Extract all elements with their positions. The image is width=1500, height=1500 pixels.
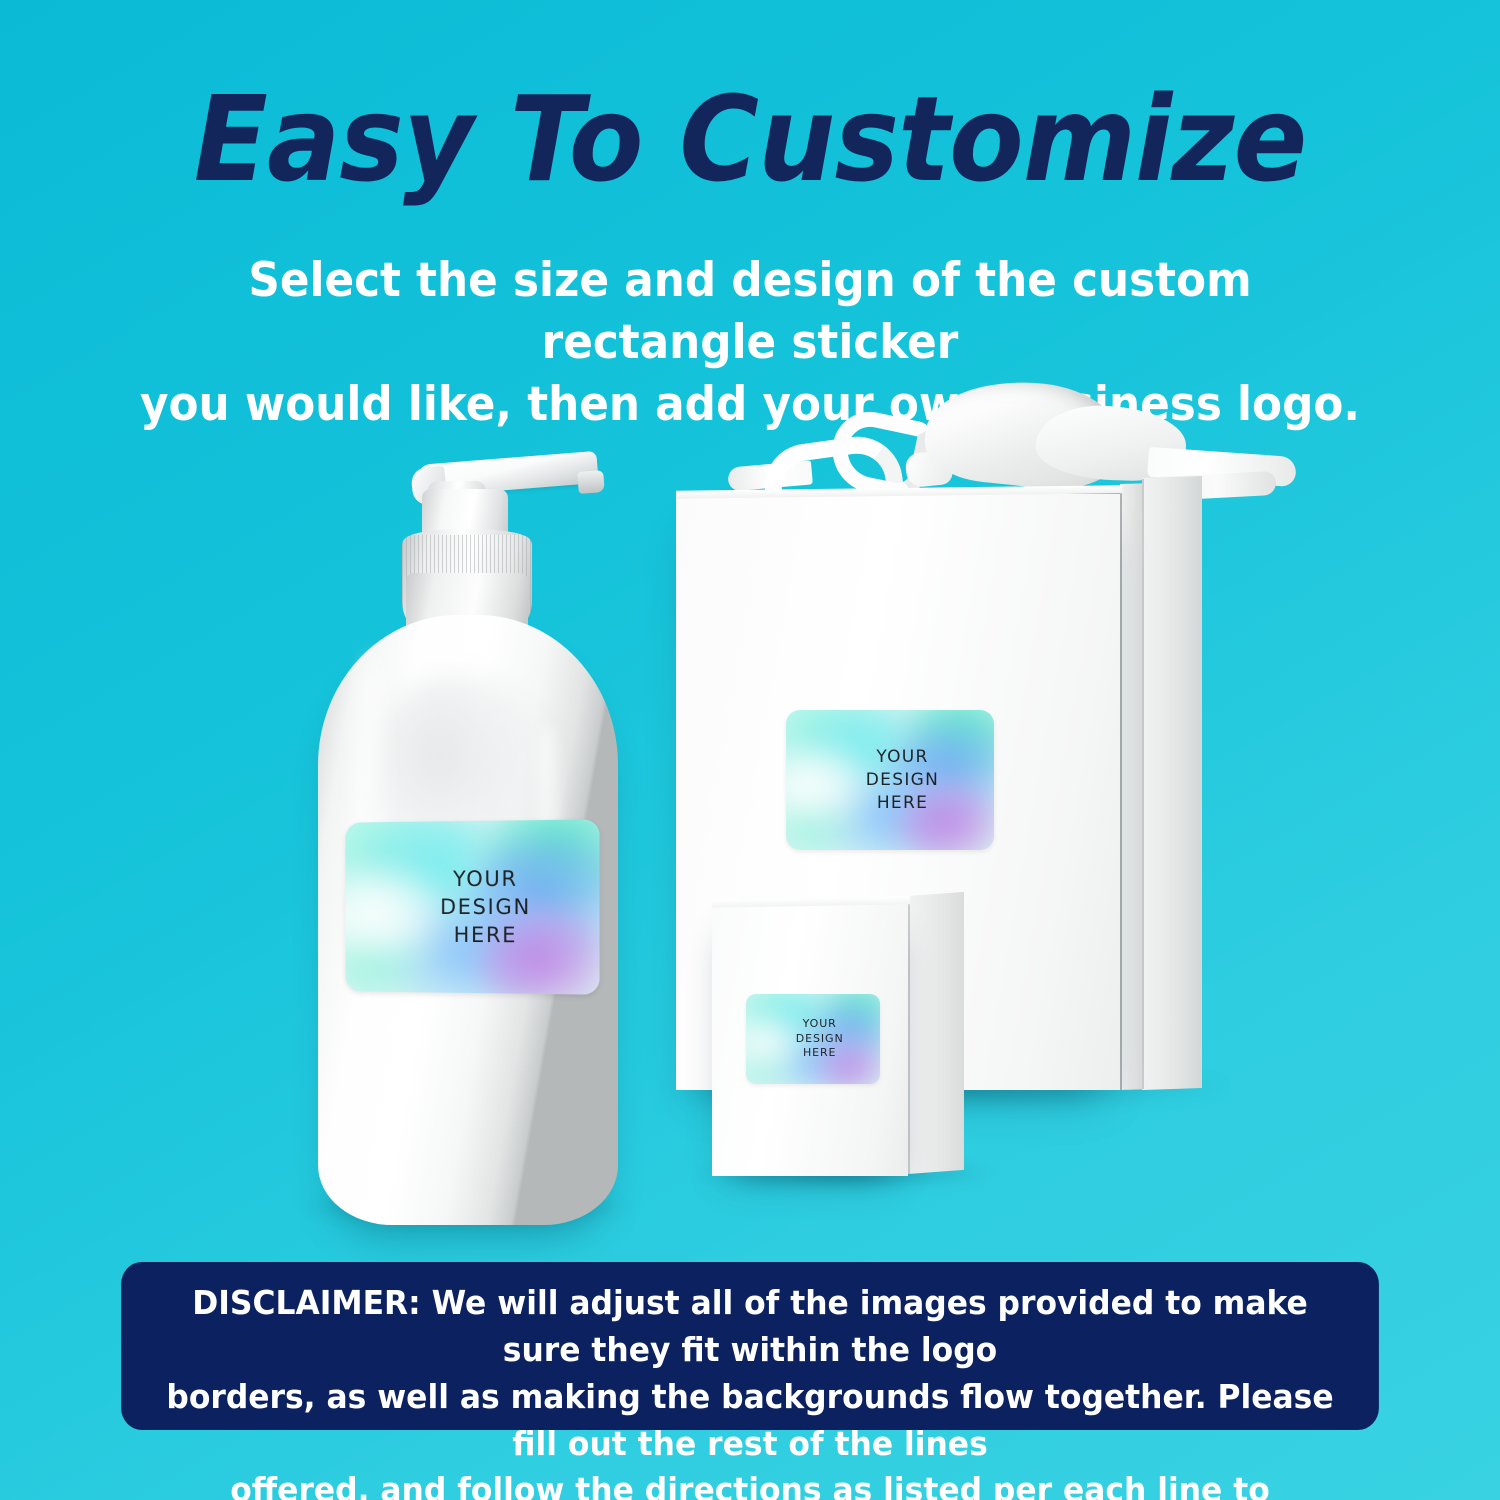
small-box-side-panel xyxy=(908,892,964,1174)
sticker-caption-line-3: HERE xyxy=(798,791,994,814)
small-box-seam xyxy=(908,898,910,1174)
disclaimer-line-3: offered, and follow the directions as li… xyxy=(155,1467,1344,1500)
sticker-caption: YOUR DESIGN HERE xyxy=(753,1017,880,1061)
watercolor-sticker: YOUR DESIGN HERE xyxy=(786,710,994,850)
sticker-caption: YOUR DESIGN HERE xyxy=(798,746,994,814)
sticker-caption-line-3: HERE xyxy=(360,921,599,950)
watercolor-sticker: YOUR DESIGN HERE xyxy=(345,819,599,994)
sticker-on-bottle[interactable]: YOUR DESIGN HERE xyxy=(345,819,599,994)
pump-bottle: YOUR DESIGN HERE xyxy=(300,425,650,1225)
gift-box-seam-outer xyxy=(1142,479,1144,1089)
sticker-caption-line-2: DESIGN xyxy=(360,893,599,922)
sticker-caption-line-2: DESIGN xyxy=(798,769,994,792)
pump-nozzle-tip xyxy=(577,470,605,494)
sticker-caption-line-1: YOUR xyxy=(798,746,994,769)
sticker-caption-line-3: HERE xyxy=(753,1046,880,1061)
gift-box-seam-inner xyxy=(1120,486,1122,1090)
small-box: YOUR DESIGN HERE xyxy=(712,896,978,1178)
promo-graphic: Easy To Customize Select the size and de… xyxy=(0,0,1500,1500)
disclaimer-line-2: borders, as well as making the backgroun… xyxy=(155,1374,1344,1468)
sticker-caption-line-1: YOUR xyxy=(753,1017,880,1032)
sticker-caption: YOUR DESIGN HERE xyxy=(360,864,599,950)
disclaimer-panel: DISCLAIMER: We will adjust all of the im… xyxy=(121,1262,1379,1430)
sticker-caption-line-1: YOUR xyxy=(360,864,599,893)
sticker-caption-line-2: DESIGN xyxy=(753,1032,880,1047)
watercolor-sticker: YOUR DESIGN HERE xyxy=(746,994,880,1084)
gift-box-lid-edge xyxy=(1120,483,1142,1090)
sticker-on-small-box[interactable]: YOUR DESIGN HERE xyxy=(746,994,880,1084)
disclaimer-line-1: DISCLAIMER: We will adjust all of the im… xyxy=(155,1280,1344,1374)
sticker-on-gift-box[interactable]: YOUR DESIGN HERE xyxy=(786,710,994,850)
gift-box-side-panel xyxy=(1142,476,1202,1090)
